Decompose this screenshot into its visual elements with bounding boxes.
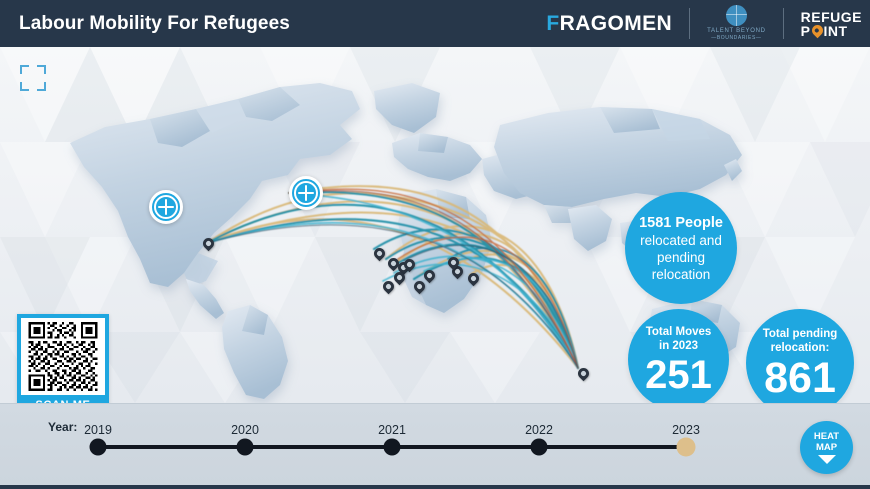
dashboard-root: Labour Mobility For Refugees FRAGOMEN TA…: [0, 0, 870, 489]
people-line4: relocation: [652, 266, 711, 283]
fragomen-logo-accent: F: [546, 12, 559, 36]
refuge-logo-line1: REFUGE: [801, 10, 862, 24]
expand-corner-top-left: [20, 65, 29, 74]
timeline-label-2023[interactable]: 2023: [672, 423, 700, 437]
qr-code-icon: [21, 318, 105, 395]
stat-bubble-total-moves[interactable]: Total Moves in 2023 251: [628, 309, 729, 403]
timeline-year-label: Year:: [48, 420, 77, 434]
map-stage[interactable]: 1581 People relocated and pending reloca…: [0, 47, 870, 403]
timeline-node-2022[interactable]: [531, 439, 548, 456]
map-pin-icon: [809, 23, 825, 39]
talent-beyond-boundaries-logo: TALENT BEYOND —BOUNDARIES—: [707, 5, 766, 42]
year-timeline[interactable]: Year: 2019 2020 2021 2022 2023 HEAT MAP: [0, 403, 870, 489]
timeline-node-2023[interactable]: [677, 438, 696, 457]
expand-corner-bottom-right: [37, 82, 46, 91]
people-headline: 1581 People: [639, 214, 723, 232]
refuge-point-logo: REFUGE P INT: [801, 10, 862, 38]
qr-scan-label: SCAN ME: [21, 395, 105, 403]
tbb-logo-line2: —BOUNDARIES—: [711, 35, 761, 42]
total-pending-label-line1: Total pending: [763, 327, 838, 341]
qr-scan-card[interactable]: SCAN ME: [17, 314, 109, 403]
refuge-logo-line2: P INT: [801, 24, 862, 38]
chevron-down-icon: [818, 455, 836, 464]
expand-corner-bottom-left: [20, 82, 29, 91]
tbb-logo-line1: TALENT BEYOND: [707, 27, 766, 35]
plus-circle-icon-ring: [294, 181, 318, 205]
timeline-node-2019[interactable]: [90, 439, 107, 456]
cluster-marker-europe[interactable]: [289, 176, 323, 210]
app-header: Labour Mobility For Refugees FRAGOMEN TA…: [0, 0, 870, 47]
people-line2: relocated and: [640, 232, 722, 249]
fragomen-logo: FRAGOMEN: [546, 12, 672, 36]
heat-map-label-line1: HEAT: [814, 431, 839, 442]
total-pending-label-line2: relocation:: [771, 341, 830, 355]
total-moves-value: 251: [645, 355, 712, 395]
heat-map-button[interactable]: HEAT MAP: [800, 421, 853, 474]
expand-corner-top-right: [37, 65, 46, 74]
people-line3: pending: [657, 249, 705, 266]
timeline-label-2022[interactable]: 2022: [525, 423, 553, 437]
cluster-marker-north-america[interactable]: [149, 190, 183, 224]
total-moves-label-line2: in 2023: [659, 339, 698, 353]
stat-bubble-people[interactable]: 1581 People relocated and pending reloca…: [625, 192, 737, 304]
header-logos: FRAGOMEN TALENT BEYOND —BOUNDARIES— REFU…: [546, 0, 862, 47]
timeline-label-2020[interactable]: 2020: [231, 423, 259, 437]
fullscreen-expand-icon[interactable]: [20, 65, 46, 91]
logo-divider-1: [689, 8, 690, 39]
timeline-track[interactable]: [98, 445, 686, 449]
plus-circle-icon-ring: [154, 195, 178, 219]
globe-icon: [726, 5, 747, 26]
timeline-node-2020[interactable]: [237, 439, 254, 456]
refuge-logo-p: P: [801, 24, 811, 38]
timeline-label-2019[interactable]: 2019: [84, 423, 112, 437]
timeline-node-2021[interactable]: [384, 439, 401, 456]
timeline-label-2021[interactable]: 2021: [378, 423, 406, 437]
refuge-logo-int: INT: [824, 24, 848, 38]
total-moves-label-line1: Total Moves: [646, 325, 712, 339]
total-pending-value: 861: [764, 357, 836, 400]
world-map[interactable]: [0, 47, 870, 403]
fragomen-logo-text: RAGOMEN: [560, 12, 672, 36]
logo-divider-2: [783, 8, 784, 39]
heat-map-label-line2: MAP: [816, 442, 837, 453]
page-title: Labour Mobility For Refugees: [19, 13, 290, 35]
